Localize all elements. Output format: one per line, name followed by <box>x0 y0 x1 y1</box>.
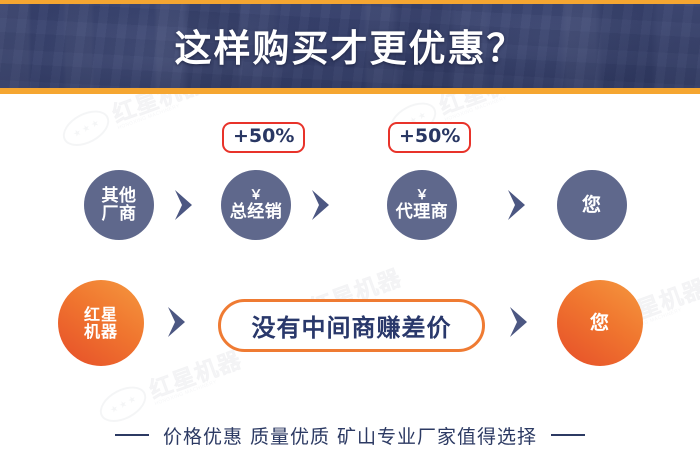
node-other-manufacturer[interactable]: 其他 厂商 <box>84 170 154 240</box>
circle-you-direct: 您 <box>557 280 643 366</box>
brand-line2: 机器 <box>84 323 118 340</box>
watermark-star-icon: ★ <box>80 122 91 134</box>
markup-badge-distributor: +50% <box>222 122 305 153</box>
circle-general-distributor: ￥ 总经销 <box>221 170 291 240</box>
header-accent-bar <box>0 88 700 94</box>
node-line1: 代理商 <box>396 203 449 221</box>
node-hongxing-machinery[interactable]: 红星 机器 <box>58 280 144 366</box>
node-line1: 您 <box>582 195 602 216</box>
node-general-distributor[interactable]: ￥ 总经销 <box>221 170 291 240</box>
node-line1: 其他 <box>102 187 137 205</box>
yen-symbol-icon: ￥ <box>249 189 262 202</box>
node-line2: 厂商 <box>102 205 137 223</box>
chevron-right-icon <box>505 188 531 222</box>
node-agent[interactable]: ￥ 代理商 <box>387 170 457 240</box>
circle-you: 您 <box>557 170 627 240</box>
node-you[interactable]: 您 <box>557 170 627 240</box>
distribution-chain-row: 其他 厂商 +50% ￥ 总经销 +50% ￥ 代理商 <box>0 150 700 260</box>
footer-divider-left <box>115 434 149 436</box>
watermark-star-oval-icon: ★ ★ ★ <box>57 103 115 153</box>
watermark-star-icon: ★ <box>89 118 100 130</box>
node-you-direct[interactable]: 您 <box>557 280 643 366</box>
promo-banner: ★ ★ ★ 红星机器 HONGXING MACHINERY ★ ★ ★ 红星机器… <box>0 0 700 464</box>
no-middleman-pill[interactable]: 没有中间商赚差价 <box>218 299 485 352</box>
footer-tagline: 价格优惠 质量优质 矿山专业厂家值得选择 <box>0 415 700 455</box>
watermark-star-icon: ★ <box>71 127 82 139</box>
footer-text: 价格优惠 质量优质 矿山专业厂家值得选择 <box>163 422 537 449</box>
circle-other-manufacturer: 其他 厂商 <box>84 170 154 240</box>
chevron-right-icon <box>507 305 533 339</box>
banner-header: 这样购买才更优惠？ <box>0 0 700 94</box>
brand-line1: 红星 <box>84 306 118 323</box>
watermark-star-icon: ★ <box>117 398 128 410</box>
top-accent-bar <box>0 0 700 4</box>
markup-badge-agent: +50% <box>388 122 471 153</box>
watermark-star-icon: ★ <box>126 394 137 406</box>
chevron-right-icon <box>172 188 198 222</box>
watermark-brand-en: HONGXING MACHINERY <box>117 94 209 132</box>
chevron-right-icon <box>309 188 335 222</box>
node-line1: 总经销 <box>230 203 283 221</box>
footer-divider-right <box>551 434 585 436</box>
direct-sales-row: 红星 机器 没有中间商赚差价 您 <box>0 270 700 388</box>
node-line1: 您 <box>590 313 610 334</box>
yen-symbol-icon: ￥ <box>415 189 428 202</box>
no-middleman-label: 没有中间商赚差价 <box>252 308 452 343</box>
chevron-right-icon <box>165 305 191 339</box>
circle-agent: ￥ 代理商 <box>387 170 457 240</box>
watermark-star-icon: ★ <box>108 403 119 415</box>
page-title: 这样购买才更优惠？ <box>0 18 700 72</box>
watermark-star-icon: ★ <box>416 110 427 122</box>
circle-hongxing-machinery: 红星 机器 <box>58 280 144 366</box>
